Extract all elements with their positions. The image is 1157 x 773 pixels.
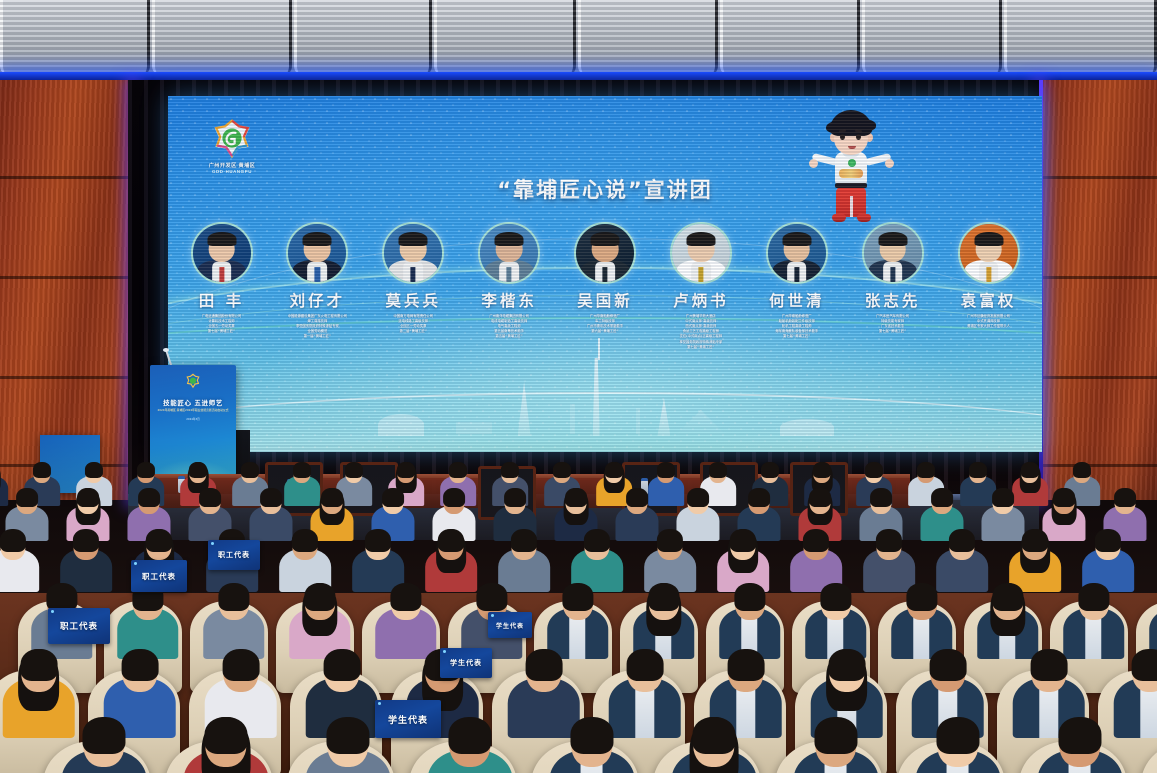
- auditorium-scene: 广州开发区 黄埔区 GDD·HUANGPU “靠埔匠心说”宣讲团 田 丰广电运通…: [0, 0, 1157, 773]
- audience-area: 职工代表职工代表职工代表学生代表学生代表学生代表: [0, 440, 1157, 773]
- audience-hair-top: [809, 488, 831, 507]
- podium-title: 技能匠心 五进师艺: [150, 397, 236, 407]
- audience-hair-top: [448, 717, 491, 755]
- audience-hair-top: [16, 488, 38, 507]
- audience-hair-top: [525, 649, 562, 681]
- audience-hair-top: [121, 649, 158, 681]
- audience-hair-top: [553, 462, 571, 478]
- seat-placard: 学生代表: [375, 700, 441, 738]
- audience-hair-top: [146, 529, 172, 552]
- audience-hair-top: [438, 529, 464, 552]
- audience-hair-top: [222, 649, 259, 681]
- audience-hair-top: [929, 649, 966, 681]
- audience-hair-top: [390, 583, 421, 610]
- audience-hair-top: [199, 488, 221, 507]
- audience-hair-top: [1021, 462, 1039, 478]
- audience-hair-top: [511, 529, 537, 552]
- audience-hair-top: [20, 649, 57, 681]
- audience-hair-top: [0, 529, 26, 552]
- audience-hair-top: [1078, 583, 1109, 610]
- seat-placard: 学生代表: [440, 648, 492, 678]
- audience-hair-top: [260, 488, 282, 507]
- audience-hair-top: [734, 583, 765, 610]
- audience-hair-top: [241, 462, 259, 478]
- podium-logo-icon: [185, 373, 201, 389]
- audience-hair-top: [969, 462, 987, 478]
- audience-hair-top: [876, 529, 902, 552]
- audience-hair-top: [1053, 488, 1075, 507]
- audience-hair-top: [204, 717, 247, 755]
- audience-hair-top: [657, 462, 675, 478]
- audience-hair-top: [906, 583, 937, 610]
- audience-member: [1032, 712, 1127, 773]
- audience-hair-top: [443, 488, 465, 507]
- audience-hair-top: [504, 488, 526, 507]
- audience-hair-top: [570, 717, 613, 755]
- audience-hair-top: [1095, 529, 1121, 552]
- audience-hair-top: [449, 462, 467, 478]
- audience-member: [544, 712, 639, 773]
- audience-hair-top: [828, 649, 865, 681]
- audience-hair-top: [692, 717, 735, 755]
- audience-hair-top: [321, 488, 343, 507]
- audience-member: [56, 712, 151, 773]
- audience-hair-top: [365, 529, 391, 552]
- audience-hair-top: [218, 583, 249, 610]
- audience-hair-top: [501, 462, 519, 478]
- audience-hair-top: [1114, 488, 1136, 507]
- audience-hair-top: [82, 717, 125, 755]
- audience-hair-top: [46, 583, 77, 610]
- audience-hair-top: [949, 529, 975, 552]
- audience-hair-top: [761, 462, 779, 478]
- seat-placard: 职工代表: [208, 540, 260, 570]
- wood-wall-right: [1039, 80, 1157, 500]
- seat-placard: 职工代表: [131, 560, 187, 592]
- audience-hair-top: [304, 583, 335, 610]
- audience-hair-top: [820, 583, 851, 610]
- audience-hair-top: [1030, 649, 1067, 681]
- audience-hair-top: [917, 462, 935, 478]
- audience-hair-top: [85, 462, 103, 478]
- podium-subtitle: 2024年黄埔区·黄埔区2024年职业技能竞赛活动启动仪式: [150, 408, 236, 412]
- audience-hair-top: [803, 529, 829, 552]
- audience-hair-top: [323, 649, 360, 681]
- audience-hair-top: [137, 462, 155, 478]
- audience-hair-top: [865, 462, 883, 478]
- audience-hair-top: [727, 649, 764, 681]
- audience-member: [178, 712, 273, 773]
- audience-hair-top: [584, 529, 610, 552]
- audience-hair-top: [870, 488, 892, 507]
- audience-hair-top: [562, 583, 593, 610]
- podium-date: 2024年3月: [150, 417, 236, 421]
- audience-hair-top: [138, 488, 160, 507]
- audience-hair-top: [292, 529, 318, 552]
- audience-hair-top: [936, 717, 979, 755]
- audience-hair-top: [992, 583, 1023, 610]
- audience-member: [788, 712, 883, 773]
- audience-hair-top: [293, 462, 311, 478]
- audience-hair-top: [814, 717, 857, 755]
- audience-hair-top: [813, 462, 831, 478]
- audience-hair-top: [709, 462, 727, 478]
- audience-hair-top: [382, 488, 404, 507]
- ceiling: [0, 0, 1157, 80]
- audience-hair-top: [657, 529, 683, 552]
- audience-hair-top: [1131, 649, 1157, 681]
- audience-hair-top: [1073, 462, 1091, 478]
- audience-hair-top: [326, 717, 369, 755]
- audience-hair-top: [648, 583, 679, 610]
- audience-hair-top: [730, 529, 756, 552]
- audience-hair-top: [626, 488, 648, 507]
- audience-hair-top: [626, 649, 663, 681]
- seat-placard: 职工代表: [48, 608, 110, 644]
- audience-hair-top: [992, 488, 1014, 507]
- audience-hair-top: [931, 488, 953, 507]
- audience-hair-top: [33, 462, 51, 478]
- audience-hair-top: [1058, 717, 1101, 755]
- audience-hair-top: [397, 462, 415, 478]
- audience-hair-top: [73, 529, 99, 552]
- audience-hair-top: [605, 462, 623, 478]
- seat-placard: 学生代表: [488, 612, 532, 638]
- audience-hair-top: [565, 488, 587, 507]
- audience-hair-top: [687, 488, 709, 507]
- audience-member: [910, 712, 1005, 773]
- audience-hair-top: [1022, 529, 1048, 552]
- audience-hair-top: [189, 462, 207, 478]
- audience-hair-top: [77, 488, 99, 507]
- led-screen: 广州开发区 黄埔区 GDD·HUANGPU “靠埔匠心说”宣讲团 田 丰广电运通…: [168, 96, 1042, 452]
- audience-hair-top: [476, 583, 507, 610]
- audience-member: [666, 712, 761, 773]
- audience-hair-top: [748, 488, 770, 507]
- audience-hair-top: [345, 462, 363, 478]
